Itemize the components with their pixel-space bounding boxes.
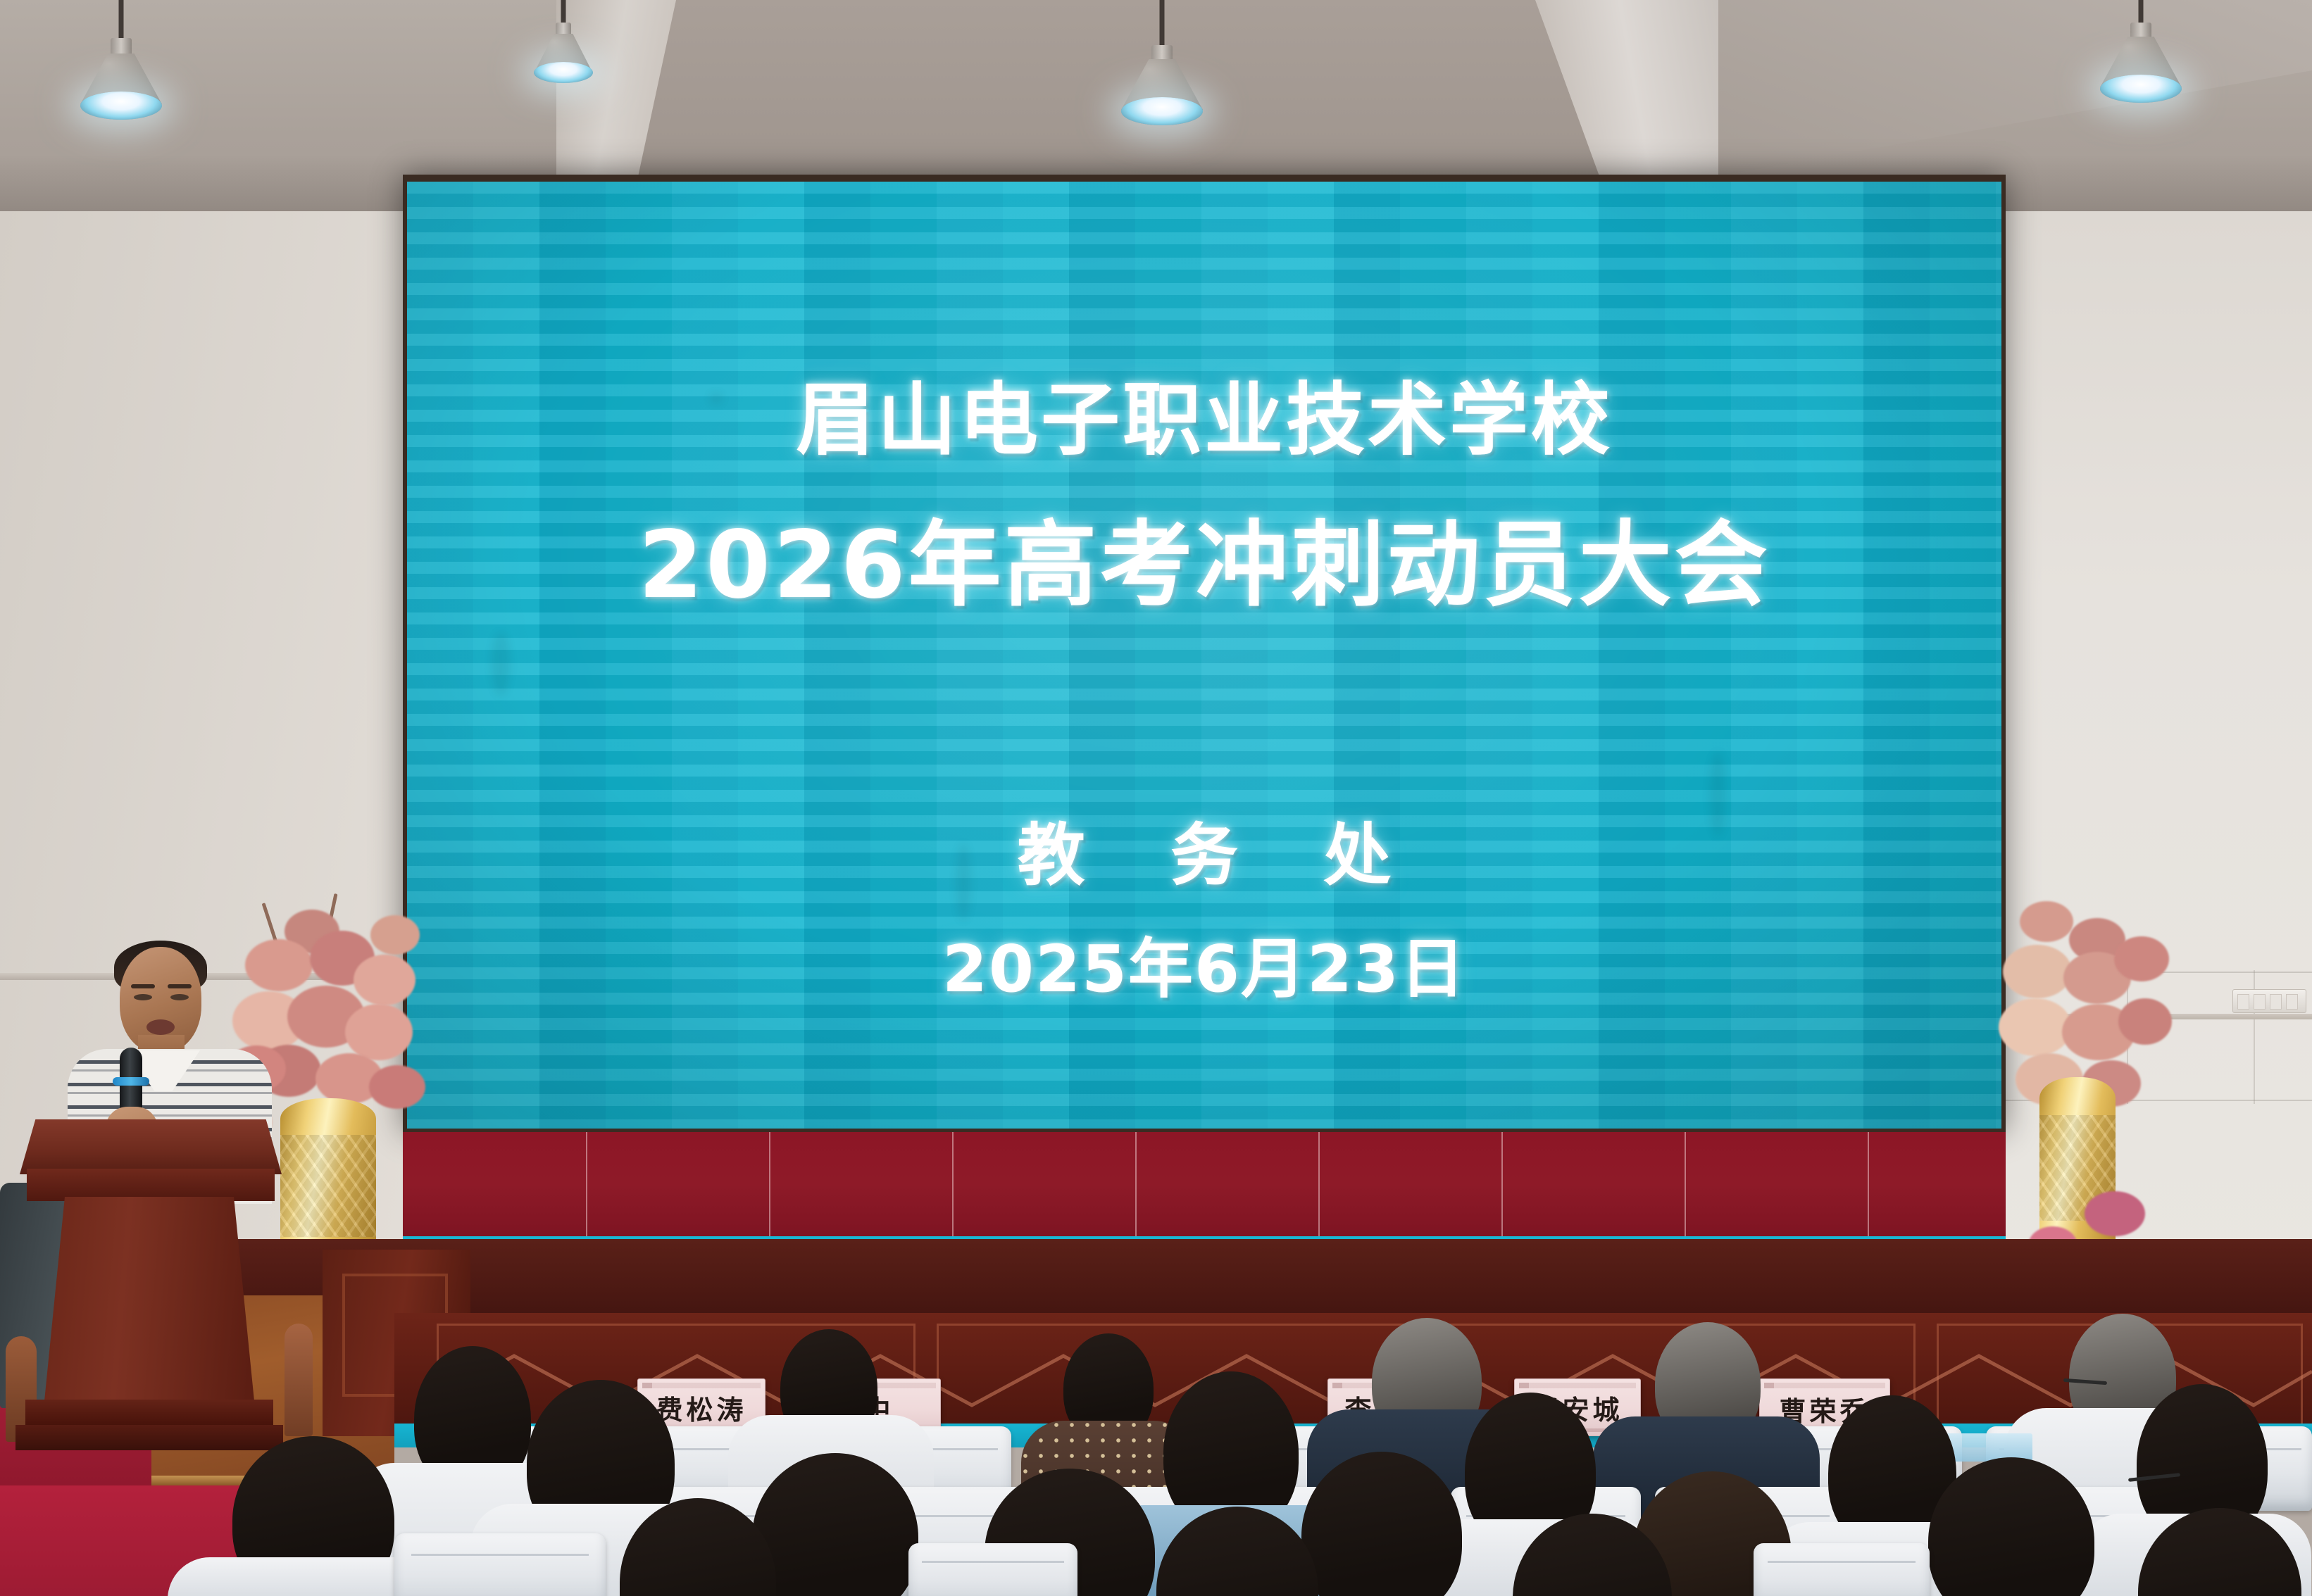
flower-blossom [354, 955, 415, 1005]
auditorium-photo: 眉山电子职业技术学校 2026年高考冲刺动员大会 教 务 处 2025年6月23… [0, 0, 2312, 1596]
podium-base [15, 1425, 283, 1450]
panel-seam [769, 1132, 770, 1236]
seat[interactable] [908, 1543, 1077, 1596]
pendant-lamp [1120, 0, 1204, 141]
led-screen-frame: 眉山电子职业技术学校 2026年高考冲刺动员大会 教 务 处 2025年6月23… [403, 175, 2006, 1132]
pendant-lamp [2099, 0, 2183, 134]
seat[interactable] [394, 1533, 606, 1596]
podium[interactable] [44, 1197, 255, 1408]
speaker-mouth [146, 1019, 175, 1035]
light-switch[interactable] [2286, 994, 2298, 1010]
light-switch[interactable] [2254, 994, 2266, 1010]
led-screen[interactable]: 眉山电子职业技术学校 2026年高考冲刺动员大会 教 务 处 2025年6月23… [407, 182, 2001, 1129]
screen-department: 教 务 处 [987, 800, 1423, 898]
led-screen-lower-red-band [403, 1132, 2006, 1236]
panel-seam [1868, 1132, 1869, 1236]
light-switch[interactable] [2270, 994, 2282, 1010]
panel-seam [952, 1132, 954, 1236]
flower-blossom [245, 939, 313, 991]
panel-seam [1501, 1132, 1503, 1236]
speaker-eye [134, 994, 152, 1000]
flower-blossom [2085, 1191, 2145, 1236]
light-switch-plate[interactable] [2232, 989, 2306, 1013]
microphone-ring [113, 1077, 149, 1086]
flower-blossom [1999, 998, 2072, 1056]
chair-armrest [285, 1324, 313, 1436]
flower-blossom [369, 1065, 425, 1109]
speaker-eyebrow [168, 984, 192, 988]
panel-seam [1685, 1132, 1686, 1236]
flower-blossom [2114, 936, 2169, 981]
led-screen-text: 眉山电子职业技术学校 2026年高考冲刺动员大会 教 务 处 2025年6月23… [407, 182, 2001, 1129]
light-switch[interactable] [2237, 994, 2249, 1010]
speaker-eye [170, 994, 189, 1000]
flower-blossom [2003, 945, 2072, 998]
pendant-lamp [79, 0, 163, 141]
flower-blossom [2020, 901, 2073, 942]
panel-seam [1135, 1132, 1137, 1236]
panel-seam [586, 1132, 587, 1236]
screen-date: 2025年6月23日 [942, 917, 1466, 1010]
podium-lip [27, 1169, 275, 1201]
panel-seam [1318, 1132, 1320, 1236]
pendant-lamp [532, 0, 595, 118]
flower-blossom [2118, 998, 2172, 1045]
speaker-eyebrow [131, 984, 155, 988]
nameplate-text: 费松涛 [656, 1388, 746, 1427]
seat[interactable] [1754, 1543, 1930, 1596]
flower-blossom [370, 915, 420, 955]
screen-school-name: 眉山电子职业技术学校 [796, 356, 1613, 470]
flower-stem [262, 903, 278, 944]
screen-event-title: 2026年高考冲刺动员大会 [638, 490, 1770, 624]
podium-top [20, 1119, 282, 1174]
